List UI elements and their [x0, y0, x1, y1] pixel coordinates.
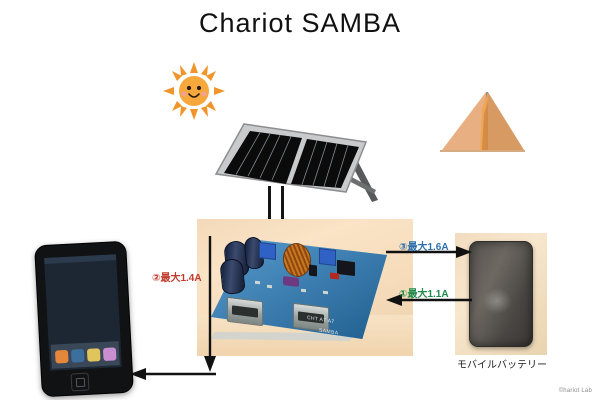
battery-caption: モバイルバッテリー	[440, 356, 564, 371]
app-label	[50, 289, 65, 294]
app-label	[85, 310, 100, 315]
smd-part	[323, 291, 328, 295]
app-label	[49, 266, 64, 271]
app-label	[101, 286, 116, 291]
usb-port-a	[227, 297, 263, 326]
ic-chip-icon	[337, 260, 355, 276]
home-square-icon	[76, 378, 85, 387]
purple-component	[283, 276, 299, 287]
app-label	[102, 309, 117, 314]
trimpot-icon	[319, 248, 336, 266]
home-button[interactable]	[71, 373, 90, 392]
battery-logo	[494, 254, 509, 265]
panel-wire-positive	[268, 186, 271, 222]
arrow-board-to-ipod-vertical	[200, 236, 220, 372]
app-label	[84, 287, 99, 292]
app-icon-video	[70, 349, 84, 363]
label-output-1: ①最大1.1A	[399, 285, 449, 300]
red-component	[330, 272, 339, 279]
app-label	[68, 311, 83, 316]
app-label	[67, 288, 82, 293]
trimpot-icon	[259, 242, 276, 260]
page-title: Chariot SAMBA	[0, 8, 600, 39]
smd-part	[301, 289, 306, 293]
app-label	[52, 335, 67, 340]
label-output-2: ②最大1.4A	[152, 269, 202, 284]
ic-chip-icon	[309, 265, 317, 277]
smd-part	[255, 281, 260, 285]
tent-icon	[438, 88, 526, 154]
app-label	[66, 265, 81, 270]
battery-body	[469, 241, 533, 347]
usb-slot	[232, 305, 258, 317]
app-label	[83, 264, 98, 269]
smd-part	[267, 285, 272, 289]
app-icon-photos	[86, 348, 100, 362]
battery-highlight	[482, 288, 512, 314]
app-icon-music	[54, 349, 68, 363]
solar-panel-icon	[206, 112, 392, 208]
app-label	[99, 263, 114, 268]
label-output-3: ③最大1.6A	[399, 238, 449, 253]
capacitor-icon	[219, 258, 246, 295]
app-icon-itunes	[102, 347, 116, 361]
ipod-device	[38, 243, 130, 395]
arrow-board-to-ipod-horizontal	[130, 366, 216, 382]
watermark: ©hariot Lab	[559, 388, 592, 394]
app-label	[51, 312, 66, 317]
charge-controller-board: CHT A7 A7 SAMBA	[197, 219, 413, 356]
ipod-screen	[44, 254, 122, 371]
panel-wire-negative	[281, 186, 284, 222]
diagram-canvas: Chariot SAMBA	[0, 0, 600, 400]
ipod-dock	[51, 341, 120, 369]
